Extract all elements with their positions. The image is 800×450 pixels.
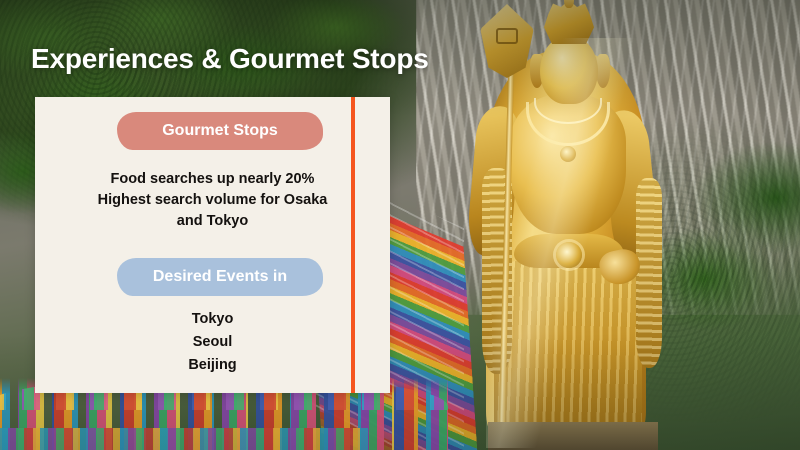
city-item-2: Seoul [35, 331, 390, 354]
body-line-2: Highest search volume for Osaka [98, 192, 328, 208]
pill-desired-events: Desired Events in [117, 258, 323, 296]
card-accent-stripe [351, 97, 355, 393]
body-line-1: Food searches up nearly 20% [111, 171, 315, 187]
gourmet-body-text: Food searches up nearly 20% Highest sear… [51, 169, 374, 232]
city-item-3: Beijing [35, 354, 390, 377]
city-list: Tokyo Seoul Beijing [35, 308, 390, 377]
pill-desired-events-label: Desired Events in [153, 268, 287, 286]
content-card: Gourmet Stops Food searches up nearly 20… [35, 97, 390, 393]
pill-gourmet-stops: Gourmet Stops [117, 112, 323, 150]
page-title: Experiences & Gourmet Stops [31, 43, 429, 75]
presentation-slide: Experiences & Gourmet Stops Gourmet Stop… [0, 0, 800, 450]
pill-gourmet-stops-label: Gourmet Stops [162, 122, 278, 140]
city-item-1: Tokyo [35, 308, 390, 331]
body-line-3: and Tokyo [177, 213, 248, 229]
